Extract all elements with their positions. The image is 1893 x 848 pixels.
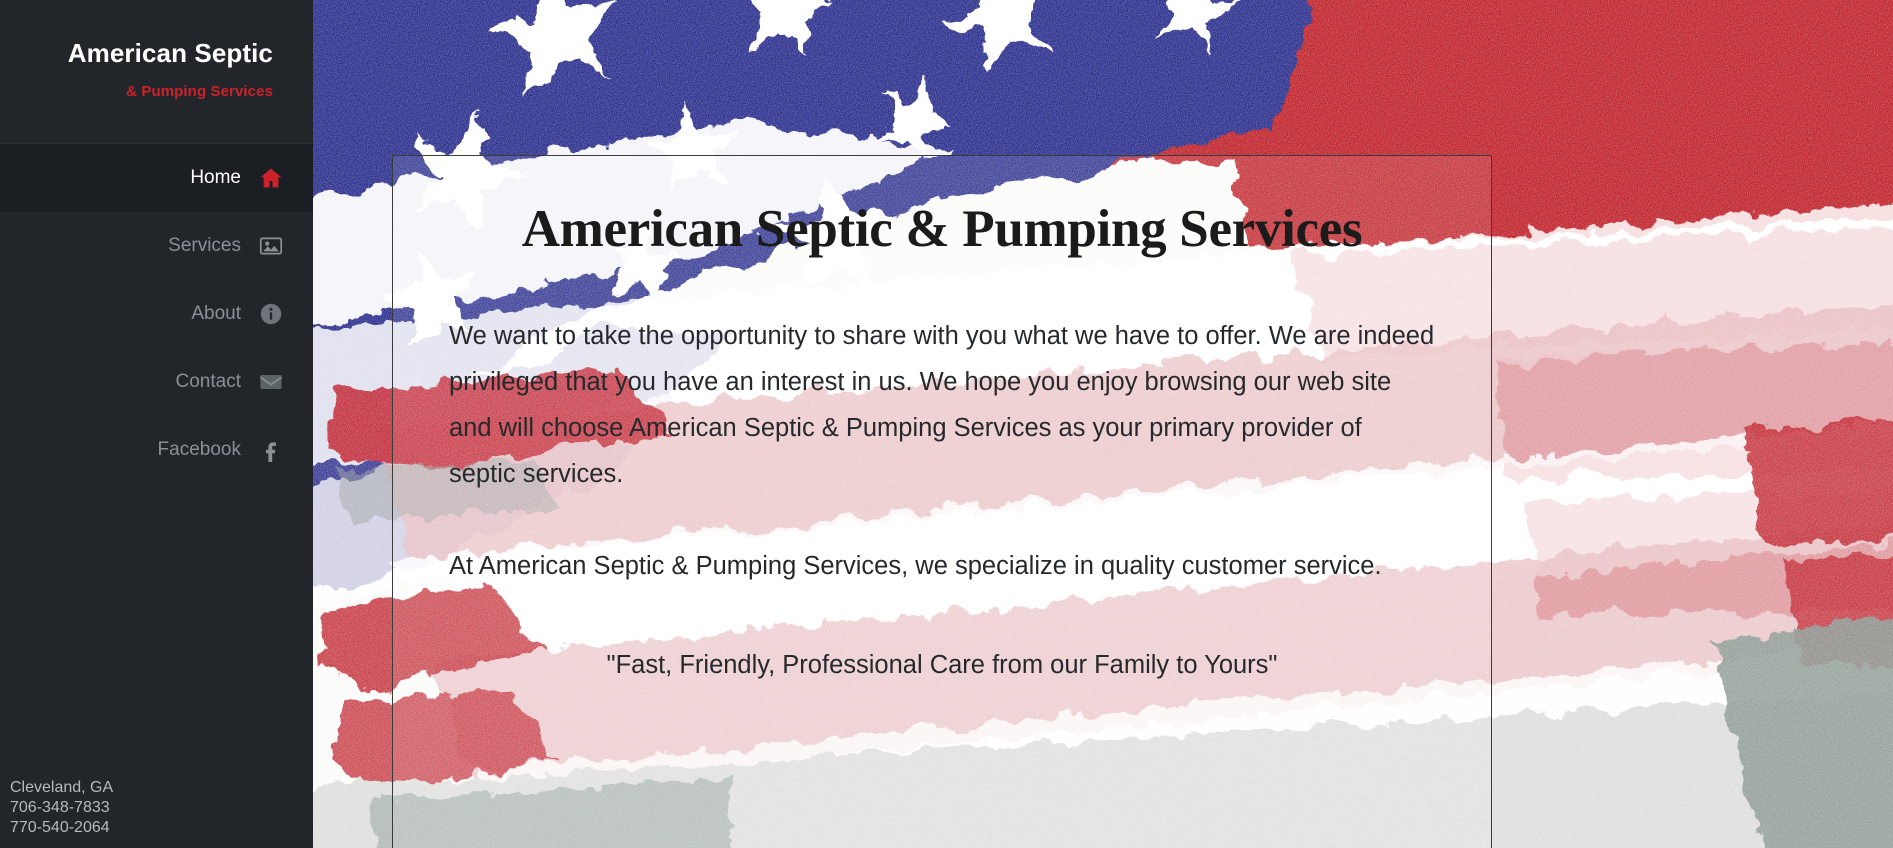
specialization-paragraph: At American Septic & Pumping Services, w… (449, 543, 1435, 589)
page-root: American Septic & Pumping Services We wa… (0, 0, 1893, 848)
sidebar-nav: Home Services About (0, 144, 313, 484)
sidebar-item-services[interactable]: Services (0, 212, 313, 280)
sidebar-item-label: Home (190, 167, 241, 189)
intro-text-block: We want to take the opportunity to share… (449, 313, 1435, 589)
sidebar-item-about[interactable]: About (0, 280, 313, 348)
sidebar-item-label: Facebook (158, 439, 241, 461)
company-tagline: "Fast, Friendly, Professional Care from … (449, 645, 1435, 685)
home-icon (259, 166, 283, 190)
info-icon (259, 302, 283, 326)
image-icon (259, 234, 283, 258)
sidebar-item-label: About (191, 303, 241, 325)
sidebar: American Septic & Pumping Services Home … (0, 0, 313, 848)
sidebar-item-contact[interactable]: Contact (0, 348, 313, 416)
page-title: American Septic & Pumping Services (449, 200, 1435, 259)
intro-paragraph: We want to take the opportunity to share… (449, 313, 1435, 497)
main-stage: American Septic & Pumping Services We wa… (313, 0, 1893, 848)
sidebar-contact-info: Cleveland, GA 706-348-7833 770-540-2064 (10, 778, 113, 838)
brand-title: American Septic (0, 38, 273, 69)
envelope-icon (259, 370, 283, 394)
brand-block[interactable]: American Septic & Pumping Services (0, 0, 313, 143)
footer-phone-secondary[interactable]: 770-540-2064 (10, 818, 113, 838)
sidebar-item-label: Services (168, 235, 241, 257)
footer-city: Cleveland, GA (10, 778, 113, 798)
sidebar-item-facebook[interactable]: Facebook (0, 416, 313, 484)
footer-phone-primary[interactable]: 706-348-7833 (10, 798, 113, 818)
brand-subtitle: & Pumping Services (0, 83, 273, 100)
facebook-icon (259, 438, 283, 462)
sidebar-item-home[interactable]: Home (0, 144, 313, 212)
sidebar-item-label: Contact (176, 371, 241, 393)
content-card: American Septic & Pumping Services We wa… (392, 155, 1492, 848)
